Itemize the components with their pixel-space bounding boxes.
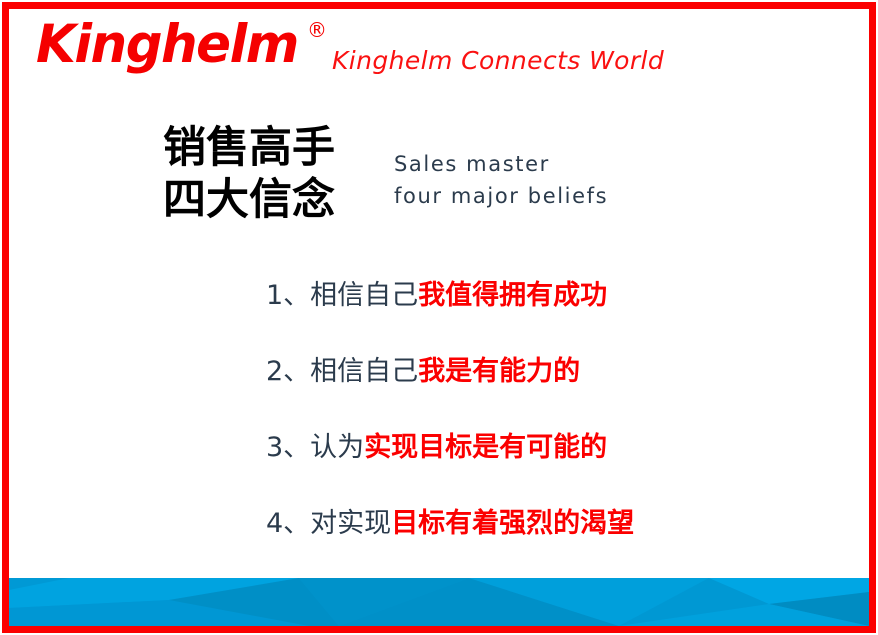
page-subtitle-line-1: Sales master [394,148,608,180]
belief-accent: 我值得拥有成功 [418,280,607,311]
belief-prefix: 3、认为 [266,432,364,463]
belief-accent: 我是有能力的 [418,356,580,387]
list-item: 4、对实现目标有着强烈的渴望 [266,504,866,580]
belief-prefix: 1、相信自己 [266,280,418,311]
page-subtitle-line-2: four major beliefs [394,180,608,212]
kinghelm-logo: Kinghelm ® [36,14,327,76]
page-title-line-1: 销售高手 [163,122,335,174]
page-title: 销售高手 四大信念 [163,122,335,226]
footer-banner [9,578,869,626]
list-item: 2、相信自己我是有能力的 [266,352,866,428]
belief-accent: 目标有着强烈的渴望 [391,508,634,539]
belief-accent: 实现目标是有可能的 [364,432,607,463]
slide-canvas: Kinghelm ® Kinghelm Connects World 销售高手 … [0,0,878,635]
registered-trademark-icon: ® [307,20,327,40]
logo-wordmark: Kinghelm [36,14,298,76]
slide-header: Kinghelm ® Kinghelm Connects World [0,0,878,100]
belief-prefix: 4、对实现 [266,508,391,539]
belief-prefix: 2、相信自己 [266,356,418,387]
low-poly-pattern-graphic [9,578,869,626]
page-subtitle: Sales master four major beliefs [394,148,608,212]
beliefs-list: 1、相信自己我值得拥有成功 2、相信自己我是有能力的 3、认为实现目标是有可能的… [266,276,866,580]
company-tagline: Kinghelm Connects World [332,46,664,75]
page-title-line-2: 四大信念 [163,174,335,226]
title-block: 销售高手 四大信念 Sales master four major belief… [163,122,863,232]
list-item: 3、认为实现目标是有可能的 [266,428,866,504]
list-item: 1、相信自己我值得拥有成功 [266,276,866,352]
